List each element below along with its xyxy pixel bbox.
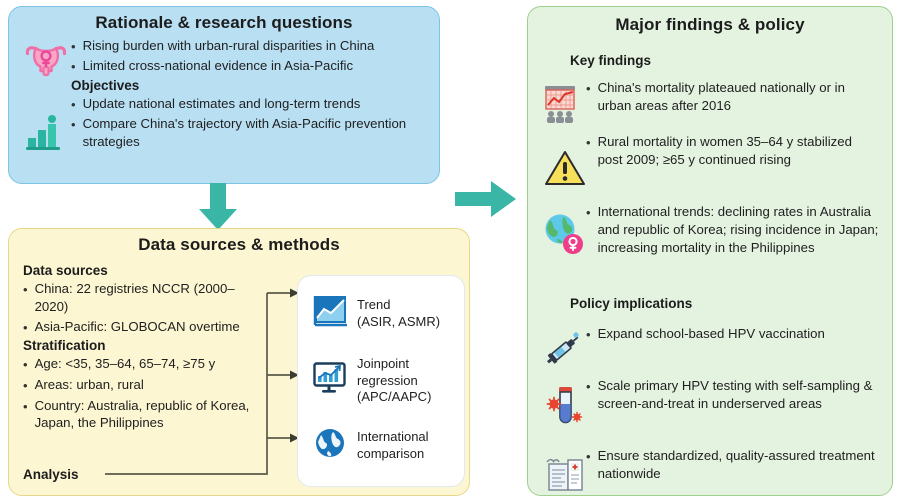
key-finding-1: China's mortality plateaued nationally o… (598, 79, 880, 115)
uterus-icon (23, 37, 69, 82)
bullet-glyph: • (586, 377, 591, 395)
list-item: • Rural mortality in women 35–64 y stabi… (586, 133, 880, 169)
globe-female-icon (542, 212, 586, 261)
list-item: • Age: <35, 35–64, 65–74, ≥75 y (23, 355, 258, 373)
key-finding-2: Rural mortality in women 35–64 y stabili… (598, 133, 880, 169)
objectives-heading: Objectives (71, 78, 429, 93)
list-item: • Ensure standardized, quality-assured t… (586, 447, 880, 483)
bullet-glyph: • (586, 203, 591, 221)
data-source-2: Asia-Pacific: GLOBOCAN overtime (35, 318, 240, 336)
stratification-1: Age: <35, 35–64, 65–74, ≥75 y (35, 355, 216, 373)
analysis-method-international: Internationalcomparison (312, 426, 456, 465)
analysis-heading: Analysis (23, 467, 79, 482)
panel-methods: Data sources & methods Data sources • Ch… (8, 228, 470, 496)
rationale-bullet-1: Rising burden with urban-rural dispariti… (83, 37, 375, 55)
list-item: • Country: Australia, republic of Korea,… (23, 397, 258, 432)
data-source-1: China: 22 registries NCCR (2000–2020) (35, 280, 258, 315)
stratification-3: Country: Australia, republic of Korea, J… (35, 397, 258, 432)
key-findings-heading: Key findings (570, 53, 651, 68)
area-chart-icon (312, 294, 348, 333)
bullet-glyph: • (586, 79, 591, 97)
analysis-method-trend: Trend(ASIR, ASMR) (312, 294, 456, 333)
test-tube-virus-icon (546, 384, 586, 433)
medical-document-icon (544, 450, 586, 497)
list-item: • China's mortality plateaued nationally… (586, 79, 880, 115)
panel-methods-title: Data sources & methods (9, 229, 469, 255)
policy-2: Scale primary HPV testing with self-samp… (598, 377, 880, 413)
list-item: • Scale primary HPV testing with self-sa… (586, 377, 880, 413)
warning-triangle-icon (544, 149, 586, 192)
methods-left-content: Data sources • China: 22 registries NCCR… (23, 261, 258, 434)
analysis-method-joinpoint: Joinpointregression(APC/AAPC) (312, 356, 456, 406)
bullet-glyph: • (71, 115, 76, 133)
policy-3: Ensure standardized, quality-assured tre… (598, 447, 880, 483)
policy-1: Expand school-based HPV vaccination (598, 325, 825, 343)
list-item: • Asia-Pacific: GLOBOCAN overtime (23, 318, 258, 336)
bullet-glyph: • (586, 447, 591, 465)
list-item: • Expand school-based HPV vaccination (586, 325, 880, 343)
globe-icon (312, 426, 348, 465)
bullet-glyph: • (71, 95, 76, 113)
bullet-glyph: • (71, 57, 76, 75)
stratification-heading: Stratification (23, 338, 258, 353)
policy-implications-heading: Policy implications (570, 296, 692, 311)
rationale-bullet-2: Limited cross-national evidence in Asia-… (83, 57, 353, 75)
monitor-chart-icon (312, 361, 348, 400)
list-item: • Limited cross-national evidence in Asi… (71, 57, 429, 75)
panel-rationale: Rationale & research questions (8, 6, 440, 184)
bullet-glyph: • (71, 37, 76, 55)
panel-findings: Major findings & policy Key findings (527, 6, 893, 496)
presentation-chart-icon (540, 83, 580, 130)
list-item: • International trends: declining rates … (586, 203, 880, 256)
bullet-glyph: • (23, 318, 28, 336)
analysis-method-international-label: Internationalcomparison (357, 429, 429, 462)
panel-rationale-title: Rationale & research questions (9, 7, 439, 33)
analysis-methods-box: Trend(ASIR, ASMR) Jo (297, 275, 465, 487)
bullet-glyph: • (23, 397, 28, 415)
bar-chart-people-icon (25, 113, 67, 158)
analysis-method-joinpoint-label: Joinpointregression(APC/AAPC) (357, 356, 431, 406)
syringe-icon (542, 328, 584, 375)
rationale-content: • Rising burden with urban-rural dispari… (71, 37, 429, 153)
bullet-glyph: • (586, 133, 591, 151)
bullet-glyph: • (23, 280, 28, 298)
data-sources-heading: Data sources (23, 263, 258, 278)
bullet-glyph: • (586, 325, 591, 343)
findings-content: Key findings (528, 7, 892, 495)
key-finding-3: International trends: declining rates in… (598, 203, 880, 256)
infographic-canvas: Rationale & research questions (0, 0, 900, 502)
list-item: • Rising burden with urban-rural dispari… (71, 37, 429, 55)
list-item: • Areas: urban, rural (23, 376, 258, 394)
bullet-glyph: • (23, 355, 28, 373)
analysis-method-trend-label: Trend(ASIR, ASMR) (357, 297, 440, 330)
bullet-glyph: • (23, 376, 28, 394)
arrow-right-icon (455, 178, 517, 225)
objective-1: Update national estimates and long-term … (83, 95, 361, 113)
stratification-2: Areas: urban, rural (35, 376, 144, 394)
list-item: • Compare China's trajectory with Asia-P… (71, 115, 429, 150)
list-item: • China: 22 registries NCCR (2000–2020) (23, 280, 258, 315)
list-item: • Update national estimates and long-ter… (71, 95, 429, 113)
objective-2: Compare China's trajectory with Asia-Pac… (83, 115, 429, 150)
